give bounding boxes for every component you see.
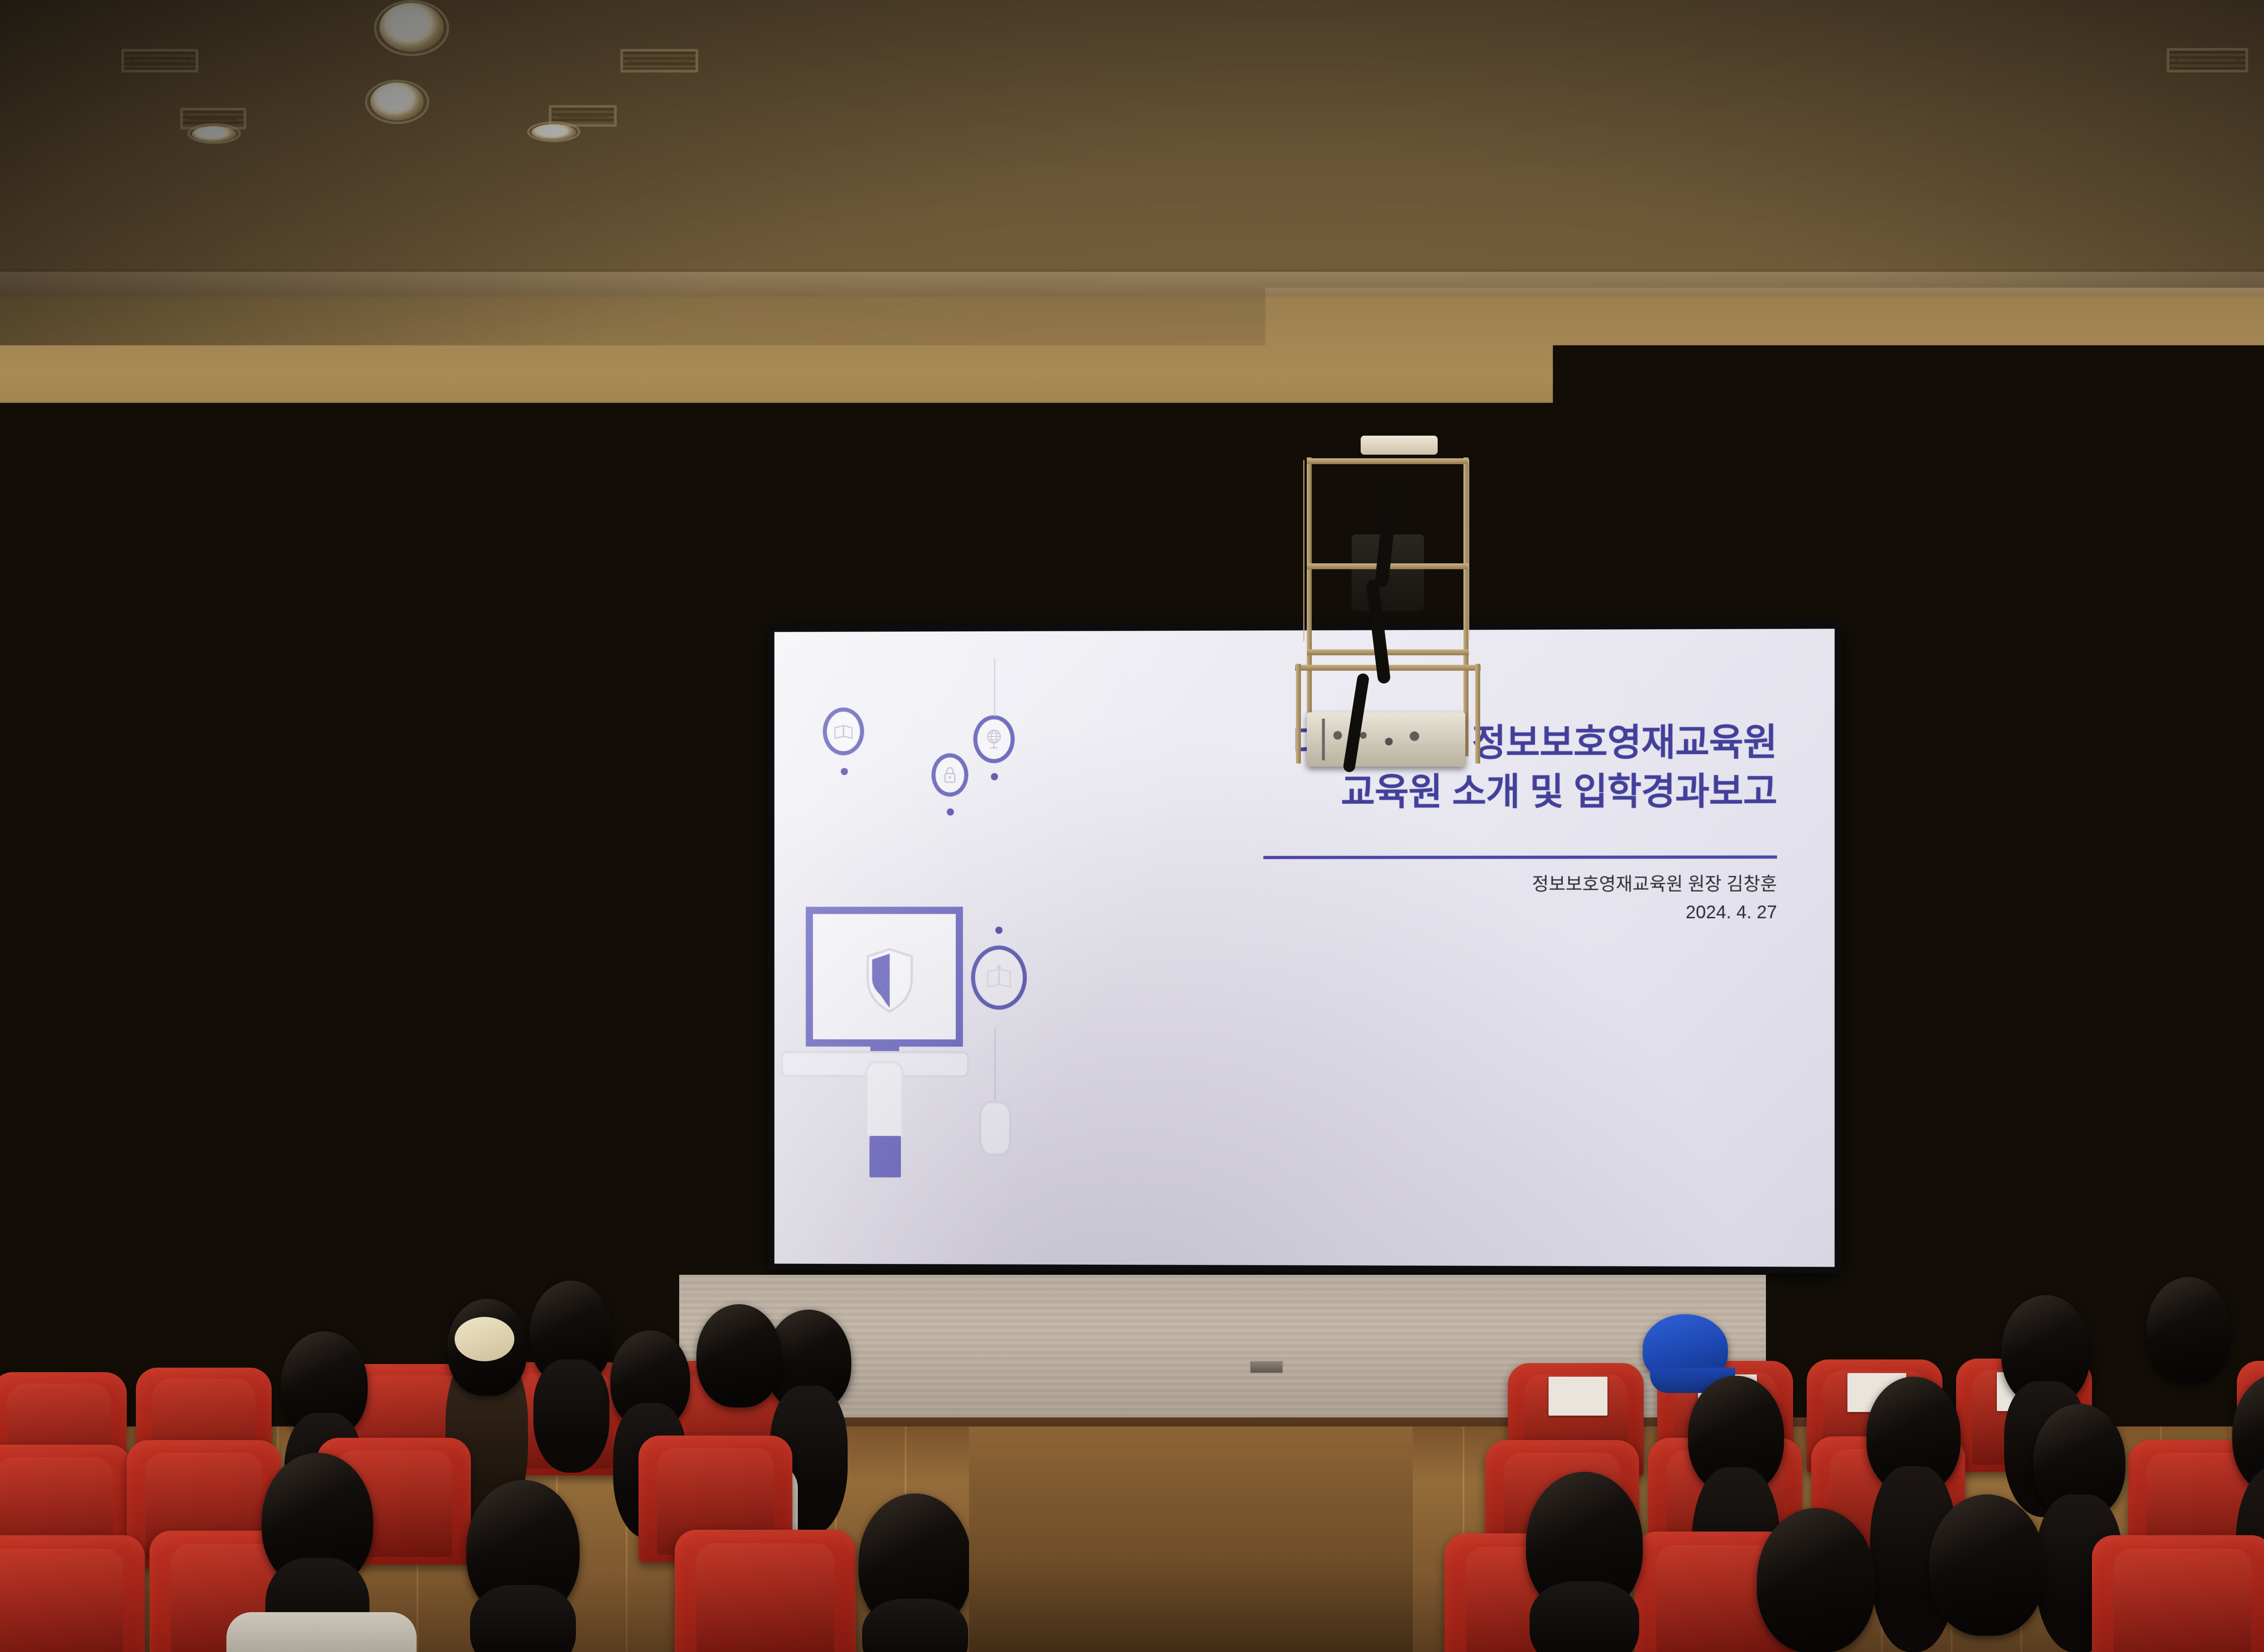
ceiling-vent <box>121 49 198 72</box>
seat-number-card <box>1549 1377 1607 1416</box>
ceiling-vent <box>2167 48 2248 72</box>
audience-head <box>2146 1277 2230 1384</box>
presenter-mic-hand <box>2126 1022 2156 1051</box>
projector-rod <box>1475 664 1480 764</box>
pointing-hand-icon <box>865 1061 903 1138</box>
ceiling-rear-section <box>0 0 2264 290</box>
padlock-icon <box>931 753 968 797</box>
eyeglass-bridge <box>2138 978 2149 980</box>
daegu-university-emblem <box>32 1191 71 1230</box>
ceiling-downlight-ring <box>527 121 580 142</box>
book-glyph <box>985 963 1013 993</box>
ceiling-projector <box>1307 712 1465 767</box>
icon-connector-dot <box>841 768 848 775</box>
center-aisle-floor <box>969 1426 1413 1652</box>
audience-head <box>1757 1508 1875 1652</box>
projection-screen: 대구대학교 정보보호영재교육원 교육원 소개 및 입학경과보고 정보보호영재교육… <box>774 629 1834 1267</box>
icon-connector-line <box>994 1028 996 1101</box>
seat <box>0 1535 145 1652</box>
icon-connector-dot <box>995 927 1002 934</box>
ceiling-front-section <box>0 297 2264 473</box>
audience-hair <box>470 1585 576 1652</box>
audience-shoulders <box>226 1612 417 1652</box>
ceiling-beam-lip <box>0 272 2264 300</box>
slide-title-line2: 교육원 소개 및 입학경과보고 <box>1293 767 1777 817</box>
wall-speaker-left <box>50 528 177 720</box>
globe-glyph <box>984 728 1004 750</box>
projector-crossbar <box>1307 458 1469 464</box>
hand-sleeve-icon <box>869 1136 901 1177</box>
audience-hair <box>862 1599 968 1652</box>
projector-crossbar <box>1307 649 1469 655</box>
eyeglass-lens-right <box>2149 972 2173 988</box>
projector-port-panel <box>1315 719 1457 760</box>
open-book-icon <box>823 707 864 755</box>
banner-title: 기 개최 정보보호영재교육원 제1기 입학식 <box>462 495 1965 555</box>
banner-datetime: 일시: 2024. 4. 27.(토) 11:00 <box>933 596 1180 627</box>
ceiling-vent <box>620 49 698 72</box>
slide-byline: 정보보호영재교육원 원장 김창훈 2024. 4. 27 <box>1532 870 1777 927</box>
wall-speaker-left-side <box>168 544 204 715</box>
icon-connector-dot <box>991 773 998 780</box>
icon-connector-dot <box>947 808 954 816</box>
projector-rod <box>1307 457 1312 756</box>
shield-monitor-icon <box>806 907 963 1047</box>
slide-date: 2024. 4. 27 <box>1532 898 1777 927</box>
auditorium-presentation-scene: 기 개최 정보보호영재교육원 제1기 입학식 일시: 2024. 4. 27.(… <box>0 0 2264 1652</box>
event-banner: 기 개최 정보보호영재교육원 제1기 입학식 일시: 2024. 4. 27.(… <box>462 495 1965 644</box>
wall-column-panel <box>389 761 433 874</box>
projector-rod <box>1296 664 1301 764</box>
hair-scrunchie <box>455 1317 514 1361</box>
ceiling-downlight-ring <box>365 80 429 124</box>
audience-hair <box>533 1359 609 1473</box>
projector-ceiling-box <box>1361 436 1438 455</box>
shield-glyph <box>863 946 916 1014</box>
audience-head <box>1929 1494 2045 1636</box>
projector-support-wire <box>1468 460 1469 641</box>
slide-divider-rule <box>1263 855 1777 859</box>
icon-connector-line <box>994 658 995 716</box>
projection-screen-frame: 대구대학교 정보보호영재교육원 교육원 소개 및 입학경과보고 정보보호영재교육… <box>768 622 1841 1273</box>
seat <box>2092 1535 2264 1652</box>
globe-icon <box>973 715 1014 763</box>
ceiling-downlight-ring <box>187 123 241 144</box>
open-book-glyph <box>833 722 854 741</box>
audience-hair <box>1530 1581 1639 1652</box>
padlock-glyph <box>942 765 958 785</box>
wall-column-panel <box>2133 743 2171 879</box>
stage-floor-outlet <box>1250 1361 1283 1373</box>
slide-presenter: 정보보호영재교육원 원장 김창훈 <box>1532 870 1777 898</box>
seat <box>675 1530 856 1652</box>
audience-head <box>696 1304 782 1407</box>
projector-support-wire <box>1303 460 1305 641</box>
ceiling-downlight-ring <box>374 0 449 56</box>
book-circle-icon <box>971 946 1027 1010</box>
computer-mouse-icon <box>979 1101 1012 1156</box>
